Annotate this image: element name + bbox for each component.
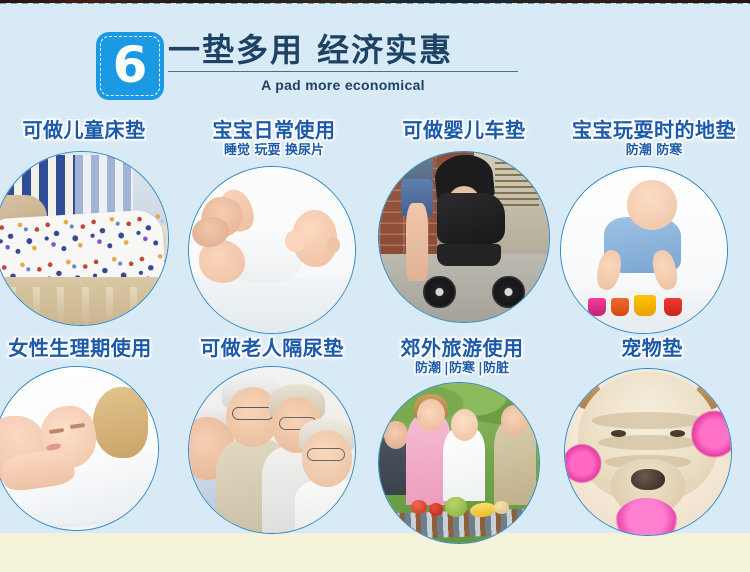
picnic-scene xyxy=(379,383,539,543)
page-subtitle-en: A pad more economical xyxy=(168,77,518,93)
caption-block: 可做婴儿车垫 xyxy=(358,118,570,143)
sleeping-woman-scene xyxy=(0,367,158,530)
cell-photo xyxy=(560,166,728,334)
cell-caption: 郊外旅游使用 xyxy=(356,336,568,361)
step-number-badge: 6 xyxy=(96,32,164,100)
cell-photo xyxy=(188,166,356,334)
title-divider xyxy=(168,71,518,72)
caption-block: 宠物垫 xyxy=(546,336,750,361)
puppy-scene xyxy=(565,369,731,535)
cell-pet-pad: 宠物垫 xyxy=(546,336,750,536)
cell-play-floor-mat: 宝宝玩耍时的地垫 防潮 防寒 xyxy=(548,118,750,328)
cell-subcaption: 防潮 防寒 xyxy=(548,143,750,159)
cell-photo xyxy=(564,368,732,536)
cell-caption: 宝宝日常使用 xyxy=(168,118,380,143)
cell-photo xyxy=(378,151,550,323)
cell-photo xyxy=(0,151,169,326)
cell-subcaption: 睡觉 玩耍 换尿片 xyxy=(168,143,380,159)
caption-block: 可做老人隔尿垫 xyxy=(166,336,378,361)
subcaption-part-1: 防潮 xyxy=(415,361,441,376)
cell-caption: 可做儿童床垫 xyxy=(0,118,190,143)
subcaption-separator: | xyxy=(444,361,446,377)
cell-outdoor-travel: 郊外旅游使用 防潮|防寒|防脏 xyxy=(356,336,568,536)
subcaption-separator: | xyxy=(478,361,480,377)
cell-caption: 宝宝玩耍时的地垫 xyxy=(548,118,750,143)
cell-elderly-pad: 可做老人隔尿垫 xyxy=(166,336,378,536)
subcaption-part-2: 防寒 xyxy=(449,361,475,376)
stroller-scene xyxy=(379,152,549,322)
caption-block: 宝宝日常使用 睡觉 玩耍 换尿片 xyxy=(168,118,380,159)
caption-block: 女性生理期使用 xyxy=(0,336,186,361)
cell-photo xyxy=(0,366,159,531)
cell-caption: 女性生理期使用 xyxy=(0,336,186,361)
caption-block: 可做儿童床垫 xyxy=(0,118,190,143)
elderly-group-scene xyxy=(189,367,355,533)
badge-number-text: 6 xyxy=(96,32,164,100)
caption-block: 郊外旅游使用 防潮|防寒|防脏 xyxy=(356,336,568,377)
cell-caption: 宠物垫 xyxy=(546,336,750,361)
diaper-change-scene xyxy=(189,167,355,333)
cell-photo xyxy=(188,366,356,534)
header: 6 一垫多用 经济实惠 A pad more economical xyxy=(0,14,750,106)
cell-period-use: 女性生理期使用 xyxy=(0,336,186,536)
bottom-color-band xyxy=(0,533,750,572)
top-edge-strip xyxy=(0,0,750,4)
subcaption-part-3: 防脏 xyxy=(483,361,509,376)
cell-child-mattress: 可做儿童床垫 xyxy=(0,118,190,328)
title-block: 一垫多用 经济实惠 A pad more economical xyxy=(168,30,568,93)
cell-stroller-pad: 可做婴儿车垫 xyxy=(358,118,570,328)
page-title: 一垫多用 经济实惠 xyxy=(168,30,568,70)
cell-subcaption: 防潮|防寒|防脏 xyxy=(356,361,568,377)
cell-photo xyxy=(378,382,540,544)
caption-block: 宝宝玩耍时的地垫 防潮 防寒 xyxy=(548,118,750,159)
crib-scene xyxy=(0,152,168,325)
crawling-baby-scene xyxy=(561,167,727,333)
poster-canvas: 6 一垫多用 经济实惠 A pad more economical 可做儿童床垫 xyxy=(0,0,750,572)
cell-baby-daily-use: 宝宝日常使用 睡觉 玩耍 换尿片 xyxy=(168,118,380,328)
cell-caption: 可做婴儿车垫 xyxy=(358,118,570,143)
cell-caption: 可做老人隔尿垫 xyxy=(166,336,378,361)
